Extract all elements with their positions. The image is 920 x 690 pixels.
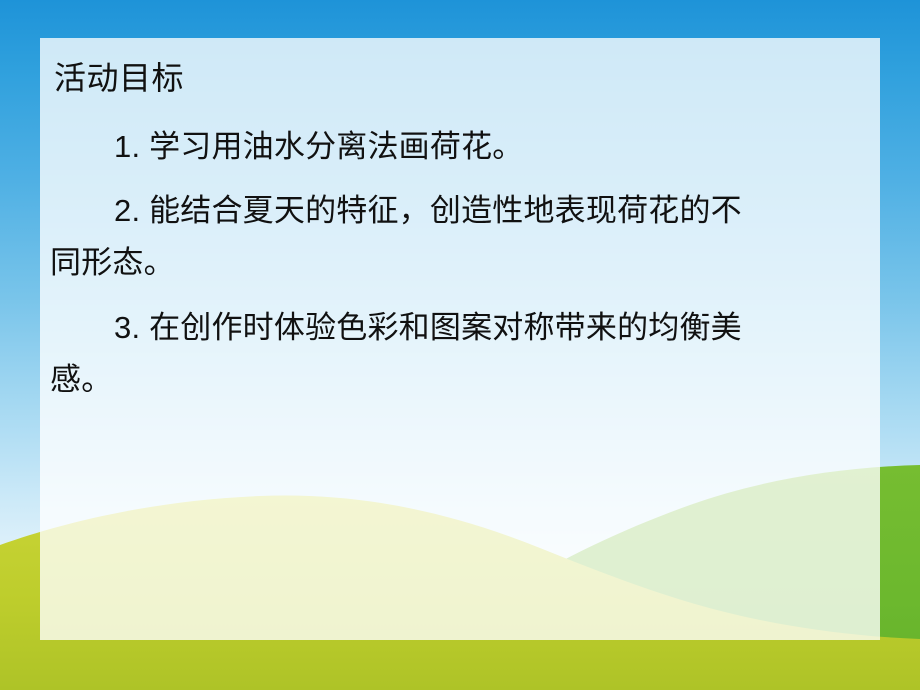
goal-item-1-line-1: 1. 学习用油水分离法画荷花。 bbox=[50, 122, 870, 172]
goal-gap-1 bbox=[48, 174, 870, 186]
content-panel: 活动目标 1. 学习用油水分离法画荷花。 2. 能结合夏天的特征，创造性地表现荷… bbox=[40, 38, 880, 640]
goal-item-3-line-1: 3. 在创作时体验色彩和图案对称带来的均衡美 bbox=[50, 303, 870, 353]
goal-item-2-line-2: 同形态。 bbox=[50, 238, 870, 288]
title-body-spacer bbox=[48, 110, 870, 122]
page-title: 活动目标 bbox=[54, 58, 870, 98]
goal-item-3-line-2: 感。 bbox=[50, 355, 870, 405]
slide-canvas: 活动目标 1. 学习用油水分离法画荷花。 2. 能结合夏天的特征，创造性地表现荷… bbox=[0, 0, 920, 690]
goal-gap-2 bbox=[48, 291, 870, 303]
goal-item-2-line-1: 2. 能结合夏天的特征，创造性地表现荷花的不 bbox=[50, 186, 870, 236]
